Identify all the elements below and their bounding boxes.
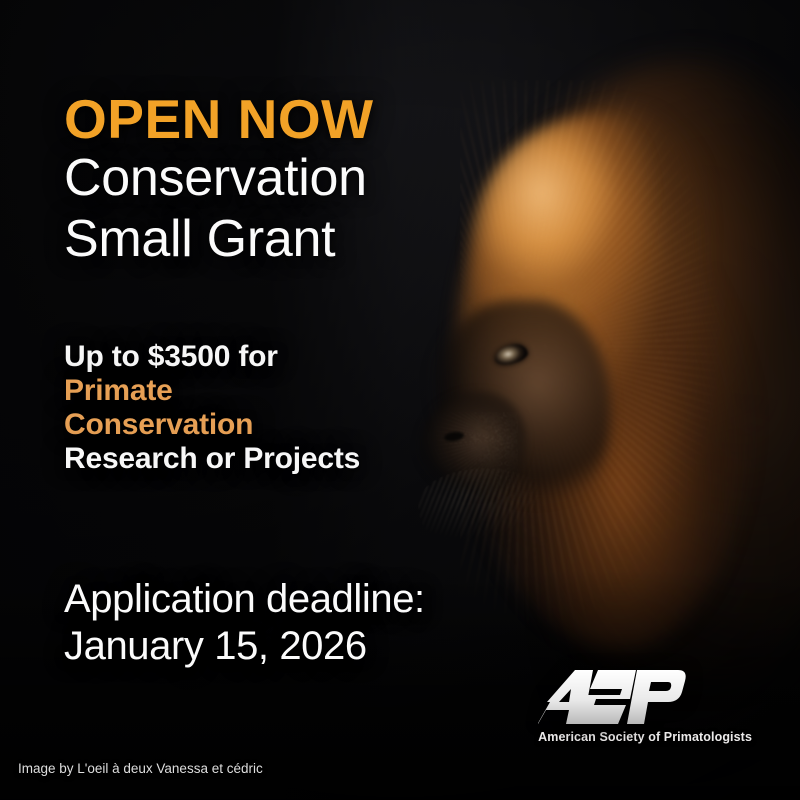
headline-line-2: Small Grant: [64, 209, 374, 270]
poster-content: OPEN NOW Conservation Small Grant Up to …: [0, 0, 800, 800]
asp-logo-tagline: American Society of Primatologists: [538, 730, 752, 744]
headline-line-1: Conservation: [64, 148, 374, 209]
image-credit: Image by L'oeil à deux Vanessa et cédric: [18, 761, 263, 776]
headline-block: OPEN NOW Conservation Small Grant: [64, 90, 374, 270]
conservation-grant-poster: OPEN NOW Conservation Small Grant Up to …: [0, 0, 800, 800]
grant-topic-line-1: Primate: [64, 374, 360, 408]
deadline-block: Application deadline: January 15, 2026: [64, 576, 425, 670]
grant-topic-line-2: Conservation: [64, 408, 360, 442]
asp-logo: American Society of Primatologists: [538, 669, 752, 744]
grant-details-block: Up to $3500 for Primate Conservation Res…: [64, 340, 360, 476]
asp-logo-mark-icon: [538, 669, 686, 725]
grant-amount-line: Up to $3500 for: [64, 340, 360, 374]
deadline-date: January 15, 2026: [64, 623, 425, 670]
grant-scope-line: Research or Projects: [64, 442, 360, 476]
deadline-label: Application deadline:: [64, 576, 425, 623]
headline-eyebrow: OPEN NOW: [64, 90, 374, 148]
